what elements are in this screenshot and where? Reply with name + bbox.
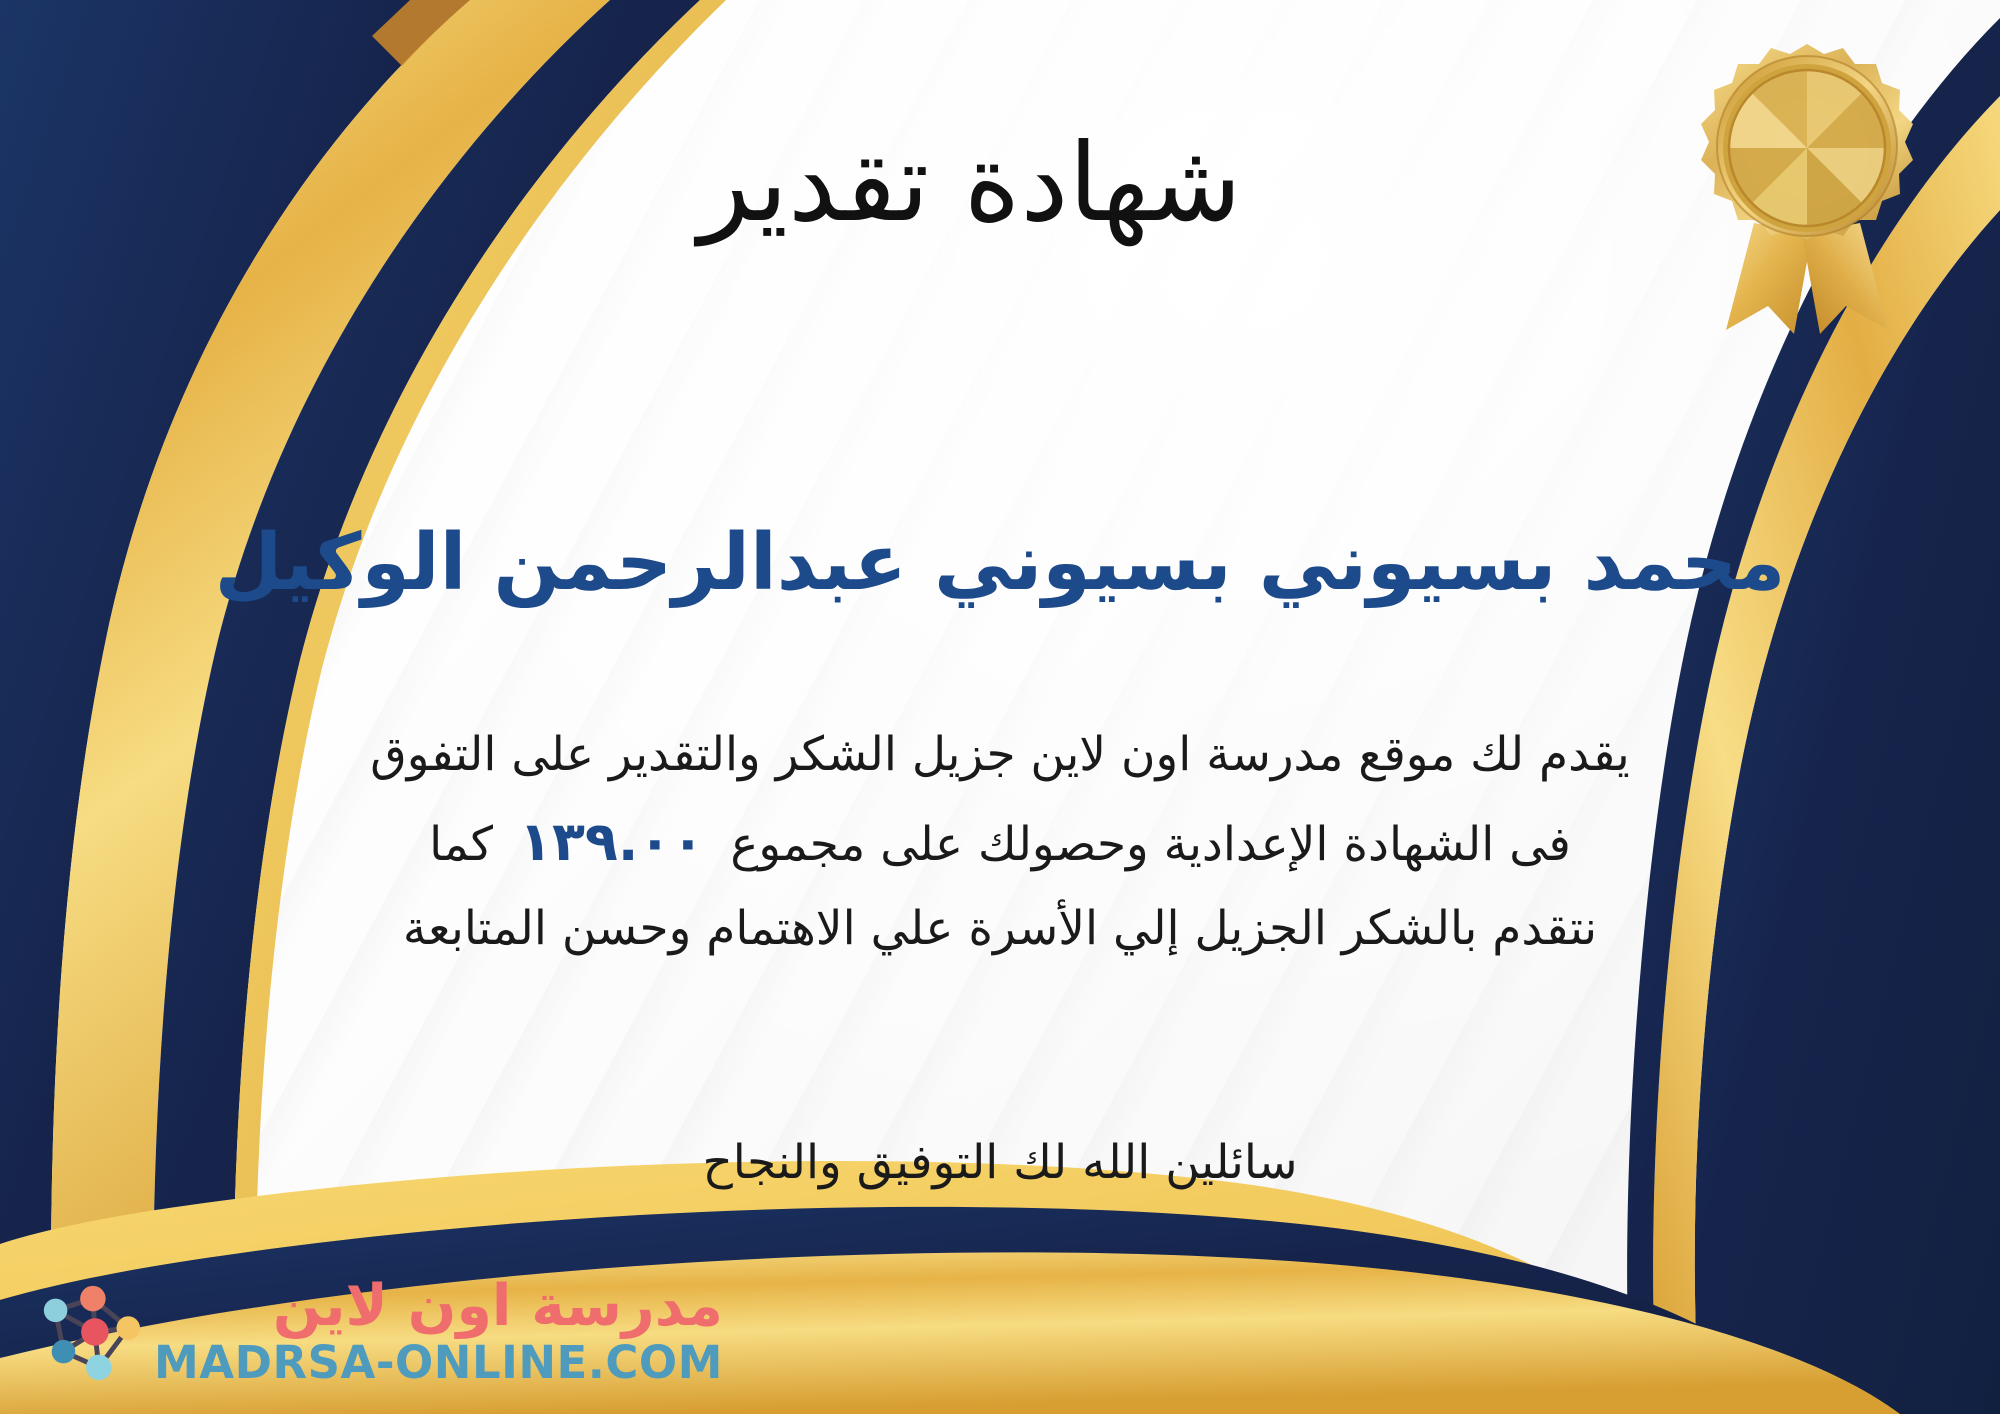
certificate-page: شهادة تقدير محمد بسيوني بسيوني عبدالرحمن…: [0, 0, 2000, 1414]
closing-line: سائلين الله لك التوفيق والنجاح: [0, 1125, 2000, 1200]
body-line-1: يقدم لك موقع مدرسة اون لاين جزيل الشكر و…: [55, 715, 1945, 796]
body-line-2-suffix: كما: [429, 817, 493, 872]
brand-logo[interactable]: مدرسة اون لاين MADRSA-ONLINE.COM: [34, 1277, 723, 1386]
body-text: يقدم لك موقع مدرسة اون لاين جزيل الشكر و…: [0, 715, 2000, 970]
gold-award-medal-icon: [1682, 38, 1932, 338]
score-value: ١٣٩.٠٠: [493, 796, 730, 889]
brand-name-arabic: مدرسة اون لاين: [273, 1277, 723, 1337]
body-line-2-prefix: فى الشهادة الإعدادية وحصولك على مجموع: [730, 817, 1571, 872]
network-nodes-icon: [34, 1277, 142, 1385]
body-line-3: نتقدم بالشكر الجزيل إلي الأسرة علي الاهت…: [55, 889, 1945, 970]
brand-url[interactable]: MADRSA-ONLINE.COM: [154, 1339, 723, 1386]
brand-text-block: مدرسة اون لاين MADRSA-ONLINE.COM: [154, 1277, 723, 1386]
body-line-2: فى الشهادة الإعدادية وحصولك على مجموع١٣٩…: [55, 796, 1945, 889]
recipient-name: محمد بسيوني بسيوني عبدالرحمن الوكيل: [0, 515, 2000, 613]
